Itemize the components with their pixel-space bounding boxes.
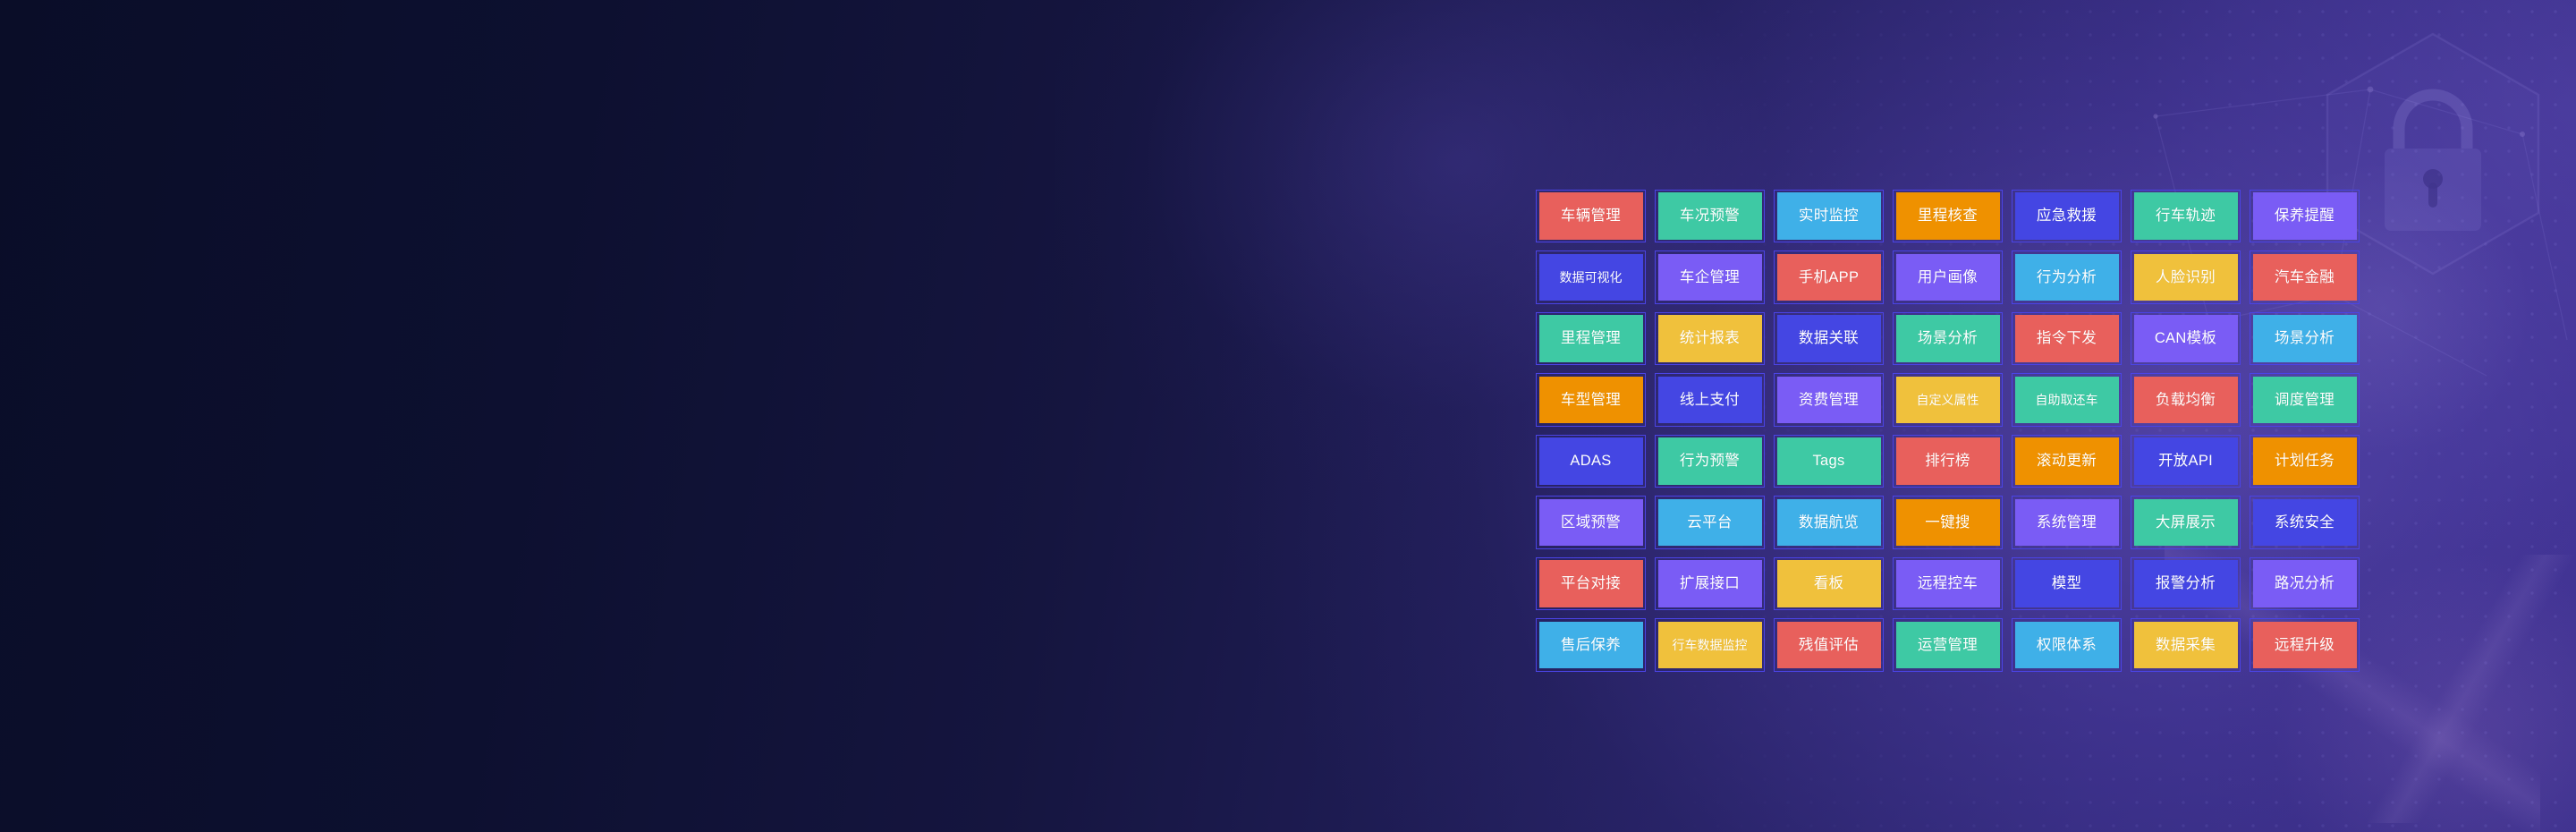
tag-frame: 数据采集: [2131, 618, 2241, 672]
tag-label: 一键搜: [1896, 499, 2000, 547]
tag-label: 手机APP: [1777, 254, 1881, 301]
tag-label: 行为分析: [2015, 254, 2119, 301]
tag-frame: 人脸识别: [2131, 250, 2241, 304]
tag-label: ADAS: [1539, 437, 1643, 485]
tag-label: 数据关联: [1777, 315, 1881, 362]
tag-数据可视化[interactable]: 数据可视化: [1531, 247, 1650, 309]
tag-调度管理[interactable]: 调度管理: [2245, 369, 2364, 431]
tag-路况分析[interactable]: 路况分析: [2245, 553, 2364, 615]
tag-人脸识别[interactable]: 人脸识别: [2126, 247, 2245, 309]
tag-系统安全[interactable]: 系统安全: [2245, 492, 2364, 554]
tag-frame: 应急救援: [2012, 190, 2122, 243]
tag-frame: 模型: [2012, 557, 2122, 611]
tag-frame: 权限体系: [2012, 618, 2122, 672]
tag-frame: 数据航览: [1774, 496, 1884, 549]
tag-frame: 场景分析: [2250, 312, 2360, 366]
tag-label: 排行榜: [1896, 437, 2000, 485]
tag-label: 行为预警: [1658, 437, 1762, 485]
tag-frame: 大屏展示: [2131, 496, 2241, 549]
tag-场景分析[interactable]: 场景分析: [2245, 308, 2364, 369]
tag-售后保养[interactable]: 售后保养: [1531, 615, 1650, 676]
tag-row: 区域预警云平台数据航览一键搜系统管理大屏展示系统安全: [1531, 492, 2406, 554]
tag-平台对接[interactable]: 平台对接: [1531, 553, 1650, 615]
tag-frame: 指令下发: [2012, 312, 2122, 366]
tag-资费管理[interactable]: 资费管理: [1769, 369, 1888, 431]
tag-frame: 里程核查: [1893, 190, 2003, 243]
tag-frame: 用户画像: [1893, 250, 2003, 304]
tag-label: 报警分析: [2134, 560, 2238, 607]
tag-行为预警[interactable]: 行为预警: [1650, 430, 1769, 492]
tag-frame: 资费管理: [1774, 373, 1884, 427]
tag-label: 场景分析: [1896, 315, 2000, 362]
tag-label: 远程升级: [2253, 622, 2357, 669]
tag-label: 云平台: [1658, 499, 1762, 547]
page-root: 车辆管理车况预警实时监控里程核查应急救援行车轨迹保养提醒数据可视化车企管理手机A…: [0, 0, 2576, 832]
tag-frame: 系统管理: [2012, 496, 2122, 549]
tag-label: 资费管理: [1777, 377, 1881, 424]
tag-label: 路况分析: [2253, 560, 2357, 607]
tag-label: 大屏展示: [2134, 499, 2238, 547]
tag-frame: 运营管理: [1893, 618, 2003, 672]
tag-label: CAN模板: [2134, 315, 2238, 362]
tag-手机APP[interactable]: 手机APP: [1769, 247, 1888, 309]
tag-frame: 区域预警: [1536, 496, 1646, 549]
tag-指令下发[interactable]: 指令下发: [2007, 308, 2126, 369]
tag-frame: 滚动更新: [2012, 435, 2122, 488]
tag-row: 售后保养行车数据监控残值评估运营管理权限体系数据采集远程升级: [1531, 615, 2406, 676]
tag-label: 滚动更新: [2015, 437, 2119, 485]
tag-数据采集[interactable]: 数据采集: [2126, 615, 2245, 676]
tag-frame: 行为分析: [2012, 250, 2122, 304]
tag-label: 用户画像: [1896, 254, 2000, 301]
tag-frame: 保养提醒: [2250, 190, 2360, 243]
tag-label: 人脸识别: [2134, 254, 2238, 301]
tag-label: 售后保养: [1539, 622, 1643, 669]
tag-frame: 自定义属性: [1893, 373, 2003, 427]
tag-row: 里程管理统计报表数据关联场景分析指令下发CAN模板场景分析: [1531, 308, 2406, 369]
tag-看板[interactable]: 看板: [1769, 553, 1888, 615]
tag-label: 里程管理: [1539, 315, 1643, 362]
tag-row: 车型管理线上支付资费管理自定义属性自助取还车负载均衡调度管理: [1531, 369, 2406, 431]
tag-label: 应急救援: [2015, 192, 2119, 240]
tag-行车轨迹[interactable]: 行车轨迹: [2126, 185, 2245, 247]
tag-frame: 调度管理: [2250, 373, 2360, 427]
tag-frame: 一键搜: [1893, 496, 2003, 549]
tag-一键搜[interactable]: 一键搜: [1888, 492, 2007, 554]
tag-label: 数据采集: [2134, 622, 2238, 669]
tag-大屏展示[interactable]: 大屏展示: [2126, 492, 2245, 554]
tag-frame: 报警分析: [2131, 557, 2241, 611]
tag-frame: 车企管理: [1655, 250, 1765, 304]
tag-frame: 残值评估: [1774, 618, 1884, 672]
tag-模型[interactable]: 模型: [2007, 553, 2126, 615]
tag-frame: 平台对接: [1536, 557, 1646, 611]
tag-row: 车辆管理车况预警实时监控里程核查应急救援行车轨迹保养提醒: [1531, 185, 2406, 247]
tag-label: 模型: [2015, 560, 2119, 607]
tag-数据航览[interactable]: 数据航览: [1769, 492, 1888, 554]
tag-frame: Tags: [1774, 435, 1884, 488]
tag-frame: 路况分析: [2250, 557, 2360, 611]
tag-label: 扩展接口: [1658, 560, 1762, 607]
tag-frame: 行车数据监控: [1655, 618, 1765, 672]
tag-排行榜[interactable]: 排行榜: [1888, 430, 2007, 492]
tag-label: 系统安全: [2253, 499, 2357, 547]
tag-row: 数据可视化车企管理手机APP用户画像行为分析人脸识别汽车金融: [1531, 247, 2406, 309]
tag-车型管理[interactable]: 车型管理: [1531, 369, 1650, 431]
tag-label: 车况预警: [1658, 192, 1762, 240]
tag-frame: 开放API: [2131, 435, 2241, 488]
tag-frame: 线上支付: [1655, 373, 1765, 427]
tag-计划任务[interactable]: 计划任务: [2245, 430, 2364, 492]
tag-frame: 看板: [1774, 557, 1884, 611]
tag-label: Tags: [1777, 437, 1881, 485]
tag-label: 残值评估: [1777, 622, 1881, 669]
tag-frame: 数据可视化: [1536, 250, 1646, 304]
tag-frame: 车型管理: [1536, 373, 1646, 427]
tag-自定义属性[interactable]: 自定义属性: [1888, 369, 2007, 431]
tag-frame: 计划任务: [2250, 435, 2360, 488]
tag-云平台[interactable]: 云平台: [1650, 492, 1769, 554]
tag-Tags[interactable]: Tags: [1769, 430, 1888, 492]
tag-ADAS[interactable]: ADAS: [1531, 430, 1650, 492]
tag-frame: 远程升级: [2250, 618, 2360, 672]
tag-label: 数据可视化: [1539, 254, 1643, 301]
tag-远程控车[interactable]: 远程控车: [1888, 553, 2007, 615]
tag-实时监控[interactable]: 实时监控: [1769, 185, 1888, 247]
tag-frame: ADAS: [1536, 435, 1646, 488]
tag-label: 线上支付: [1658, 377, 1762, 424]
tag-label: 实时监控: [1777, 192, 1881, 240]
tag-frame: CAN模板: [2131, 312, 2241, 366]
tag-行为分析[interactable]: 行为分析: [2007, 247, 2126, 309]
tag-frame: 扩展接口: [1655, 557, 1765, 611]
tag-frame: 车辆管理: [1536, 190, 1646, 243]
capability-tag-cloud: 车辆管理车况预警实时监控里程核查应急救援行车轨迹保养提醒数据可视化车企管理手机A…: [1531, 185, 2406, 700]
tag-数据关联[interactable]: 数据关联: [1769, 308, 1888, 369]
tag-开放API[interactable]: 开放API: [2126, 430, 2245, 492]
tag-frame: 行车轨迹: [2131, 190, 2241, 243]
tag-label: 车辆管理: [1539, 192, 1643, 240]
tag-label: 系统管理: [2015, 499, 2119, 547]
tag-frame: 系统安全: [2250, 496, 2360, 549]
tag-里程核查[interactable]: 里程核查: [1888, 185, 2007, 247]
tag-扩展接口[interactable]: 扩展接口: [1650, 553, 1769, 615]
tag-label: 计划任务: [2253, 437, 2357, 485]
tag-label: 保养提醒: [2253, 192, 2357, 240]
tag-负载均衡[interactable]: 负载均衡: [2126, 369, 2245, 431]
tag-frame: 实时监控: [1774, 190, 1884, 243]
tag-label: 区域预警: [1539, 499, 1643, 547]
tag-里程管理[interactable]: 里程管理: [1531, 308, 1650, 369]
tag-label: 开放API: [2134, 437, 2238, 485]
tag-row: 平台对接扩展接口看板远程控车模型报警分析路况分析: [1531, 553, 2406, 615]
tag-行车数据监控[interactable]: 行车数据监控: [1650, 615, 1769, 676]
tag-frame: 统计报表: [1655, 312, 1765, 366]
tag-label: 远程控车: [1896, 560, 2000, 607]
tag-报警分析[interactable]: 报警分析: [2126, 553, 2245, 615]
tag-权限体系[interactable]: 权限体系: [2007, 615, 2126, 676]
tag-row: ADAS行为预警Tags排行榜滚动更新开放API计划任务: [1531, 430, 2406, 492]
tag-label: 运营管理: [1896, 622, 2000, 669]
tag-远程升级[interactable]: 远程升级: [2245, 615, 2364, 676]
tag-frame: 行为预警: [1655, 435, 1765, 488]
tag-滚动更新[interactable]: 滚动更新: [2007, 430, 2126, 492]
tag-label: 自定义属性: [1896, 377, 2000, 424]
tag-label: 数据航览: [1777, 499, 1881, 547]
tag-车辆管理[interactable]: 车辆管理: [1531, 185, 1650, 247]
tag-车企管理[interactable]: 车企管理: [1650, 247, 1769, 309]
tag-label: 行车数据监控: [1658, 622, 1762, 669]
tag-残值评估[interactable]: 残值评估: [1769, 615, 1888, 676]
tag-frame: 手机APP: [1774, 250, 1884, 304]
tag-应急救援[interactable]: 应急救援: [2007, 185, 2126, 247]
tag-label: 场景分析: [2253, 315, 2357, 362]
tag-label: 车企管理: [1658, 254, 1762, 301]
tag-车况预警[interactable]: 车况预警: [1650, 185, 1769, 247]
tag-保养提醒[interactable]: 保养提醒: [2245, 185, 2364, 247]
tag-frame: 汽车金融: [2250, 250, 2360, 304]
tag-frame: 远程控车: [1893, 557, 2003, 611]
tag-汽车金融[interactable]: 汽车金融: [2245, 247, 2364, 309]
tag-frame: 云平台: [1655, 496, 1765, 549]
tag-label: 指令下发: [2015, 315, 2119, 362]
tag-label: 自助取还车: [2015, 377, 2119, 424]
tag-CAN模板[interactable]: CAN模板: [2126, 308, 2245, 369]
tag-区域预警[interactable]: 区域预警: [1531, 492, 1650, 554]
tag-frame: 排行榜: [1893, 435, 2003, 488]
tag-frame: 场景分析: [1893, 312, 2003, 366]
tag-label: 平台对接: [1539, 560, 1643, 607]
tag-label: 里程核查: [1896, 192, 2000, 240]
tag-frame: 数据关联: [1774, 312, 1884, 366]
tag-frame: 里程管理: [1536, 312, 1646, 366]
tag-线上支付[interactable]: 线上支付: [1650, 369, 1769, 431]
tag-label: 负载均衡: [2134, 377, 2238, 424]
tag-场景分析[interactable]: 场景分析: [1888, 308, 2007, 369]
tag-label: 汽车金融: [2253, 254, 2357, 301]
tag-自助取还车[interactable]: 自助取还车: [2007, 369, 2126, 431]
tag-label: 调度管理: [2253, 377, 2357, 424]
tag-frame: 售后保养: [1536, 618, 1646, 672]
tag-label: 行车轨迹: [2134, 192, 2238, 240]
tag-label: 车型管理: [1539, 377, 1643, 424]
tag-label: 权限体系: [2015, 622, 2119, 669]
tag-label: 看板: [1777, 560, 1881, 607]
tag-frame: 负载均衡: [2131, 373, 2241, 427]
tag-用户画像[interactable]: 用户画像: [1888, 247, 2007, 309]
tag-系统管理[interactable]: 系统管理: [2007, 492, 2126, 554]
tag-frame: 自助取还车: [2012, 373, 2122, 427]
tag-label: 统计报表: [1658, 315, 1762, 362]
tag-frame: 车况预警: [1655, 190, 1765, 243]
tag-统计报表[interactable]: 统计报表: [1650, 308, 1769, 369]
tag-运营管理[interactable]: 运营管理: [1888, 615, 2007, 676]
